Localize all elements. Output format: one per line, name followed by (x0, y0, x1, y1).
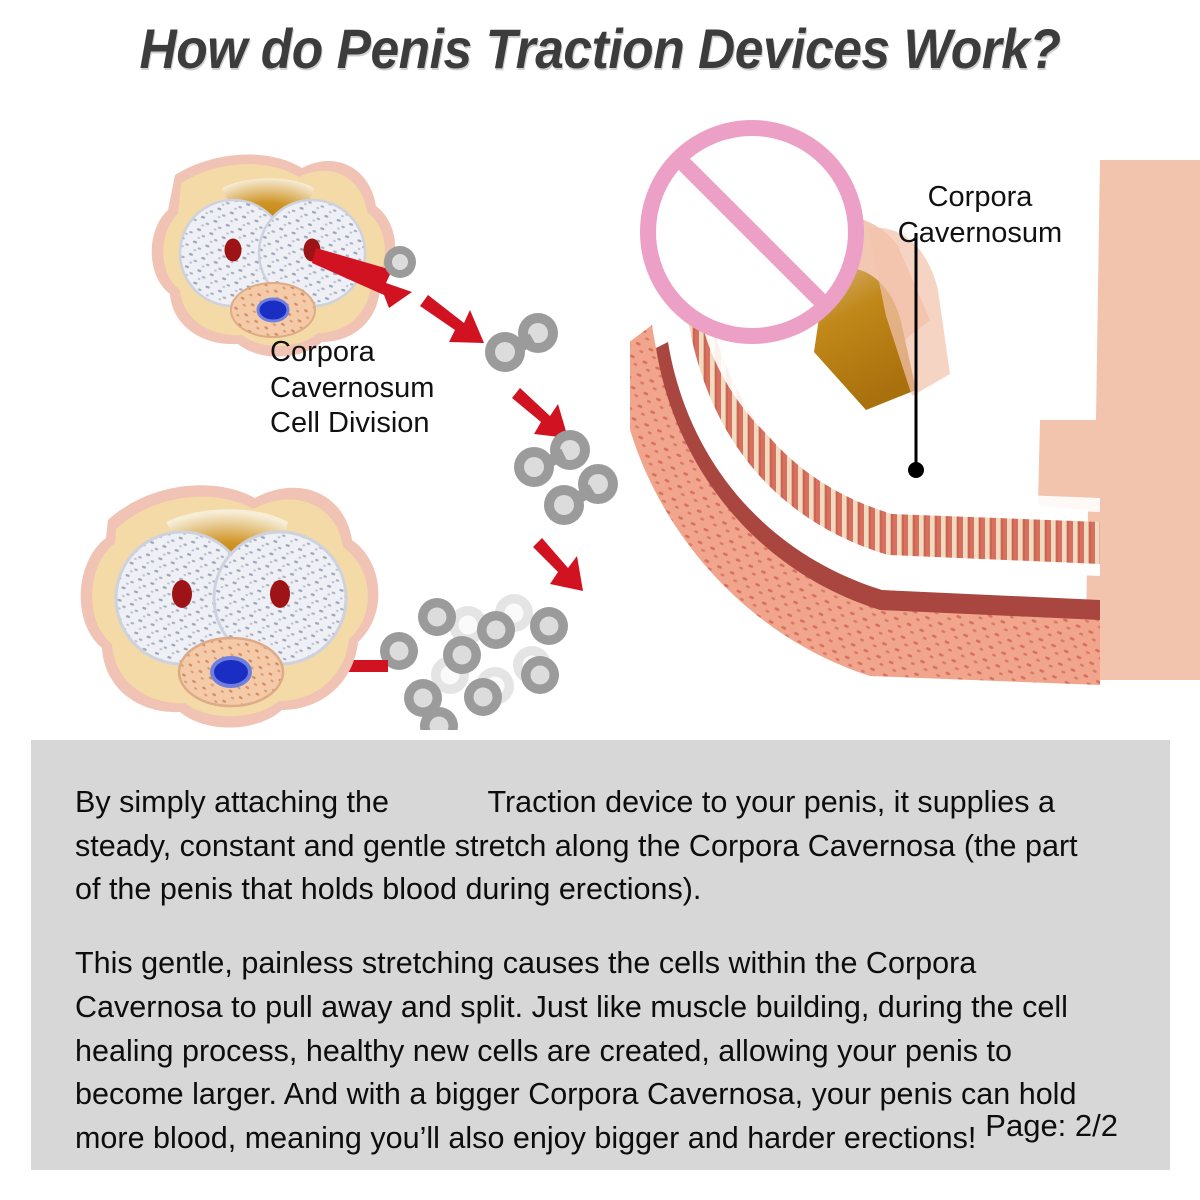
infographic-page: How do Penis Traction Devices Work? (0, 0, 1200, 1200)
urethra-2 (212, 658, 250, 686)
leader-endpoint-dot (908, 462, 924, 478)
arrow-stage-3-to-4 (533, 538, 583, 591)
arrow-stage-2-to-3 (512, 388, 568, 438)
label-corpora-cavernosum: Corpora Cavernosum (860, 180, 1100, 251)
prohibition-censor-circle (642, 122, 862, 342)
label-corpora-cavernosum-cell-division: Corpora Cavernosum Cell Division (270, 335, 434, 442)
cell-stage-4-cluster (380, 594, 568, 730)
cavernosal-artery-left (225, 239, 242, 262)
page-indicator: Page: 2/2 (985, 1108, 1118, 1144)
description-panel: By simply attaching theTraction device t… (31, 740, 1170, 1170)
penis-cross-section-after (81, 485, 379, 727)
penis-cross-section-before (152, 154, 412, 356)
cell-stage-1 (384, 246, 416, 278)
paragraph-one: By simply attaching theTraction device t… (75, 780, 1102, 911)
paragraph-one-prefix: By simply attaching the (75, 784, 389, 819)
cell-stage-2 (485, 313, 558, 372)
urethra (258, 299, 288, 321)
page-title: How do Penis Traction Devices Work? (48, 16, 1152, 81)
cell-division-diagram: Corpora Cavernosum Cell Division (40, 120, 660, 730)
cell-stage-3 (514, 430, 618, 525)
cavernosal-artery-left-2 (172, 580, 192, 608)
cavernosal-artery-right-2 (270, 580, 290, 608)
diagram-area: Corpora Cavernosum Cell Division (0, 120, 1200, 730)
paragraph-two: This gentle, painless stretching causes … (75, 941, 1102, 1160)
anatomy-cutaway-diagram: Corpora Cavernosum (630, 120, 1200, 730)
